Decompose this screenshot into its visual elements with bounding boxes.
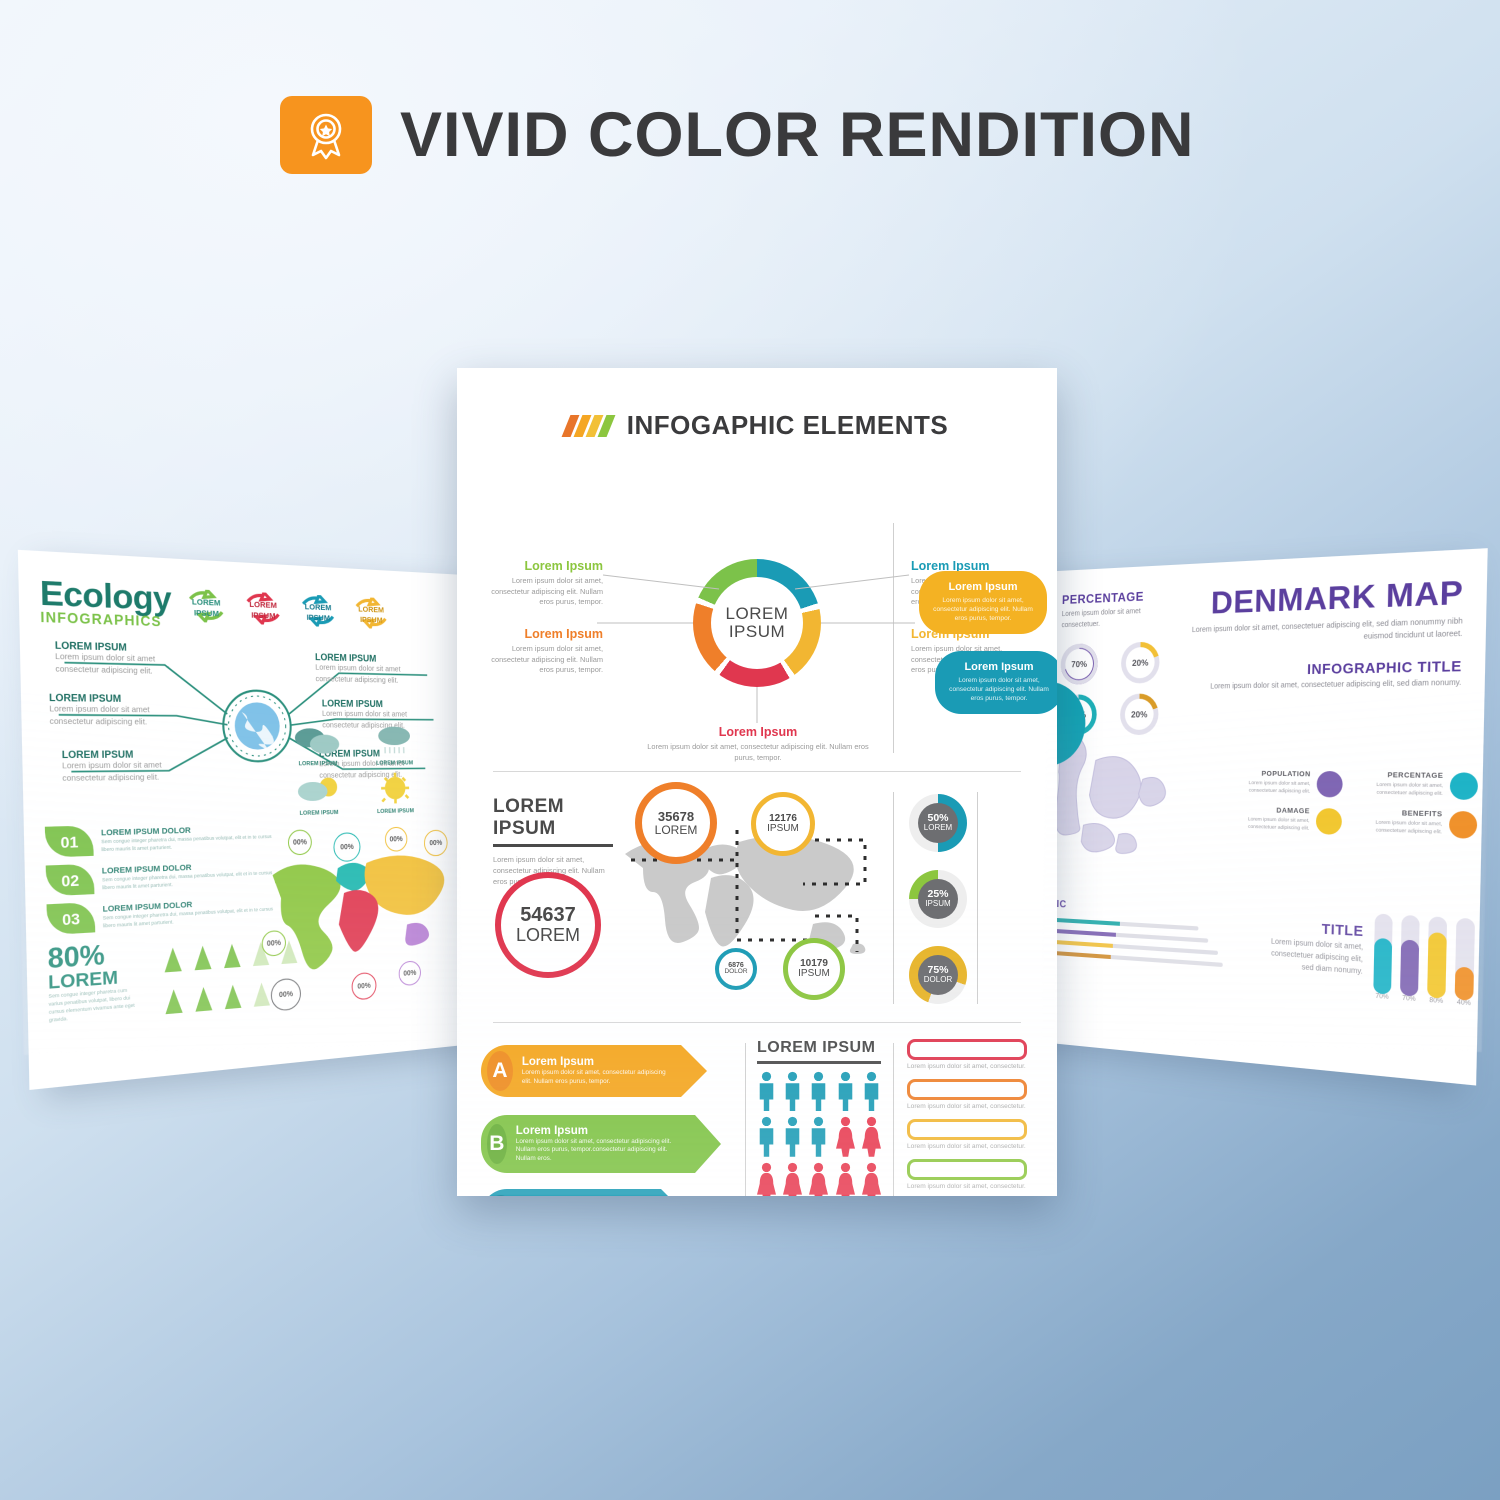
arrow-letter: B xyxy=(487,1124,507,1164)
leaf-number: 03 xyxy=(47,902,96,935)
legend-body: Lorem ipsum dolor sit amet, consectetuer… xyxy=(1227,780,1310,797)
globe-label-body: Lorem ipsum dolor sit amet consectetur a… xyxy=(315,663,415,687)
map-section-title: LOREM IPSUM xyxy=(493,796,613,840)
gauge-inner: 50% LOREM xyxy=(918,803,958,843)
cycle-label-title: Lorem Ipsum xyxy=(475,627,603,641)
person-male-icon xyxy=(757,1071,776,1112)
recycle-badge-line2: IPSUM xyxy=(296,612,341,624)
globe-label-body: Lorem ipsum dolor sit amet consectetur a… xyxy=(55,652,173,679)
denmark-legend: POPULATION Lorem ipsum dolor sit amet, c… xyxy=(1226,770,1478,839)
legend-item: PERCENTAGE Lorem ipsum dolor sit amet, c… xyxy=(1353,771,1478,800)
center-poster-title: INFOGAPHIC ELEMENTS xyxy=(627,410,949,441)
clouds-icon xyxy=(292,724,344,756)
bar-label: 80% xyxy=(1427,997,1445,1005)
cycle-label-body: Lorem ipsum dolor sit amet, consectetur … xyxy=(475,576,603,608)
people-section-title: LOREM IPSUM xyxy=(757,1039,881,1057)
list-item: 02 LOREM IPSUM DOLOR Sem congue integer … xyxy=(46,857,279,896)
legend-label: PERCENTAGE xyxy=(1354,771,1444,780)
weather-label: LOREM IPSUM xyxy=(363,808,428,816)
bar-group: 70% xyxy=(1373,914,1393,1002)
award-ribbon-icon xyxy=(280,96,372,174)
person-male-icon xyxy=(757,1116,776,1157)
percent-ring-value: 70% xyxy=(1071,658,1087,668)
person-female-icon xyxy=(836,1162,855,1196)
gauge-label: DOLOR xyxy=(924,976,952,984)
globe-label: LOREM IPSUM xyxy=(62,749,179,761)
right-poster-denmark[interactable]: PERCENTAGE Lorem ipsum dolor sit amet co… xyxy=(1036,548,1488,1085)
legend-label: POPULATION xyxy=(1228,770,1311,778)
percent-ring-value: 20% xyxy=(1132,657,1149,668)
list-item: 01 LOREM IPSUM DOLOR Sem congue integer … xyxy=(45,821,278,858)
weather-label: LOREM IPSUM xyxy=(362,760,427,767)
globe-label-body: Lorem ipsum dolor sit amet consectetur a… xyxy=(49,704,167,729)
bar-group: 80% xyxy=(1427,916,1447,1005)
gauge: 50% LOREM xyxy=(909,794,967,852)
map-marker-label: LOREM xyxy=(516,926,580,945)
callout-card-body: Lorem ipsum dolor sit amet, consectetur … xyxy=(933,596,1033,624)
legend-body: Lorem ipsum dolor sit amet, consectetuer… xyxy=(1226,816,1309,834)
arrow-banner[interactable]: B Lorem Ipsum Lorem ipsum dolor sit amet… xyxy=(481,1115,695,1173)
arrow-body: Lorem ipsum dolor sit amet, consectetur … xyxy=(516,1138,687,1164)
recycle-badge: LOREM IPSUM xyxy=(295,594,341,633)
divider xyxy=(745,1043,746,1196)
page-title: VIVID COLOR RENDITION xyxy=(400,99,1195,171)
recycle-badge-row: LOREM IPSUM LOREM IPSUM xyxy=(182,589,394,638)
map-bubble: 00% xyxy=(271,977,302,1011)
legend-item: BENEFITS Lorem ipsum dolor sit amet, con… xyxy=(1352,809,1477,839)
leaf-list: 01 LOREM IPSUM DOLOR Sem congue integer … xyxy=(45,821,280,935)
cycle-label-body: Lorem ipsum dolor sit amet, consectetur … xyxy=(475,644,603,676)
ecology-world-map: 00% 00% 00% 00% 00% 00% 00% 00% xyxy=(259,825,454,1033)
center-poster-header: INFOGAPHIC ELEMENTS xyxy=(457,410,1057,441)
pill-bar xyxy=(907,1039,1027,1060)
person-male-icon xyxy=(809,1071,828,1112)
diagonal-stripes-logo xyxy=(566,415,611,437)
divider xyxy=(977,792,978,1004)
map-marker-value: 35678 xyxy=(658,810,694,824)
map-marker-label: IPSUM xyxy=(767,824,799,835)
divider xyxy=(493,1022,1021,1023)
arrow-banner[interactable]: C Lorem Ipsum Lorem ipsum dolor sit amet… xyxy=(481,1189,661,1196)
pill-caption: Lorem ipsum dolor sit amet, consectetur. xyxy=(907,1183,1027,1190)
cycle-label-title: Lorem Ipsum xyxy=(643,725,873,739)
callout-card-body: Lorem ipsum dolor sit amet, consectetur … xyxy=(949,676,1049,704)
percentage-body: Lorem ipsum dolor sit amet consectetuer. xyxy=(1061,605,1175,631)
bar-label: 70% xyxy=(1373,993,1391,1001)
gauge-inner: 75% DOLOR xyxy=(918,955,958,995)
recycle-badge-line2: IPSUM xyxy=(240,609,287,621)
person-male-icon xyxy=(783,1116,802,1157)
sun-icon xyxy=(370,772,419,803)
denmark-bar-chart: TITLE Lorem ipsum dolor sit amet, consec… xyxy=(1260,908,1480,1008)
arrow-title: Lorem Ipsum xyxy=(522,1056,673,1068)
legend-body: Lorem ipsum dolor sit amet, consectetuer… xyxy=(1353,781,1443,798)
cycle-label: Lorem Ipsum Lorem ipsum dolor sit amet, … xyxy=(475,627,603,676)
person-female-icon xyxy=(757,1162,776,1196)
gauge: 25% IPSUM xyxy=(909,870,967,928)
pill-caption: Lorem ipsum dolor sit amet, consectetur. xyxy=(907,1103,1027,1110)
weather-item: LOREM IPSUM xyxy=(284,773,354,817)
arrow-body: Lorem ipsum dolor sit amet, consectetur … xyxy=(522,1069,673,1086)
globe-label-body: Lorem ipsum dolor sit amet consectetur a… xyxy=(62,760,179,785)
legend-label: DAMAGE xyxy=(1227,806,1310,815)
pill-bar xyxy=(907,1159,1027,1180)
recycle-badge-line2: IPSUM xyxy=(182,607,231,619)
ecology-title: Ecology xyxy=(40,576,172,615)
leaf-number: 02 xyxy=(46,864,95,897)
arrow-banner[interactable]: A Lorem Ipsum Lorem ipsum dolor sit amet… xyxy=(481,1045,681,1097)
map-marker[interactable]: 12176 IPSUM xyxy=(751,792,815,856)
chart-body: Lorem ipsum dolor sit amet, consectetuer… xyxy=(1260,937,1363,979)
center-poster-infographic[interactable]: INFOGAPHIC ELEMENTS LOREM IPSUM xyxy=(457,368,1057,1196)
weather-label: LOREM IPSUM xyxy=(284,809,353,817)
bar-label: 70% xyxy=(1400,995,1418,1003)
person-female-icon xyxy=(862,1116,881,1157)
map-marker[interactable]: 35678 LOREM xyxy=(635,782,717,864)
people-pictogram xyxy=(757,1071,881,1197)
recycle-badge-line2: IPSUM xyxy=(349,614,393,625)
denmark-map: % xyxy=(1036,679,1210,890)
map-marker-value: 54637 xyxy=(520,905,576,926)
legend-label: BENEFITS xyxy=(1353,809,1443,819)
cycle-label-body: Lorem ipsum dolor sit amet, consectetur … xyxy=(643,742,873,763)
weather-item: LOREM IPSUM xyxy=(362,772,428,815)
pill-bar xyxy=(907,1119,1027,1140)
infographic-section-title: INFOGRAPHIC TITLE xyxy=(1187,657,1461,679)
rain-cloud-icon xyxy=(370,724,419,755)
map-marker-label: DOLOR xyxy=(724,969,747,976)
arrow-letter: C xyxy=(487,1195,514,1196)
map-marker[interactable]: 54637 LOREM xyxy=(495,872,601,978)
cycle-label-title: Lorem Ipsum xyxy=(475,559,603,573)
denmark-title: DENMARK MAP xyxy=(1189,574,1464,622)
person-male-icon xyxy=(783,1071,802,1112)
gauge-label: IPSUM xyxy=(925,900,950,908)
person-male-icon xyxy=(809,1116,828,1157)
person-female-icon xyxy=(862,1162,881,1196)
left-poster-ecology[interactable]: Ecology INFOGRAPHICS LOREM IPSUM xyxy=(18,550,469,1090)
bar-group: 40% xyxy=(1455,918,1476,1008)
percentage-title: PERCENTAGE xyxy=(1062,588,1176,607)
bar-label: 40% xyxy=(1455,999,1474,1007)
people-section: LOREM IPSUM xyxy=(757,1039,881,1196)
person-female-icon xyxy=(783,1162,802,1196)
divider xyxy=(893,792,894,1004)
recycle-badge: LOREM IPSUM xyxy=(182,589,231,629)
pill-caption: Lorem ipsum dolor sit amet, consectetur. xyxy=(907,1063,1027,1070)
legend-dot xyxy=(1316,808,1342,835)
weather-label: LOREM IPSUM xyxy=(283,761,352,768)
partly-cloudy-icon xyxy=(293,773,345,805)
legend-item: DAMAGE Lorem ipsum dolor sit amet, conse… xyxy=(1226,806,1342,835)
legend-item: POPULATION Lorem ipsum dolor sit amet, c… xyxy=(1227,770,1343,798)
person-female-icon xyxy=(809,1162,828,1196)
weather-icon-group: LOREM IPSUM LOREM IPSUM LOREM IPSUM LORE… xyxy=(283,724,428,817)
leaf-number: 01 xyxy=(45,826,94,858)
bar-group: 70% xyxy=(1400,915,1420,1003)
infographic-section-body: Lorem ipsum dolor sit amet, consectetuer… xyxy=(1187,678,1461,694)
recycle-badge: LOREM IPSUM xyxy=(349,597,393,635)
gauge: 75% DOLOR xyxy=(909,946,967,1004)
pill-list: Lorem ipsum dolor sit amet, consectetur.… xyxy=(907,1039,1027,1196)
percent-ring: 70% xyxy=(1060,643,1098,684)
divider xyxy=(893,1043,894,1196)
arrow-title: Lorem Ipsum xyxy=(516,1125,687,1137)
header: VIVID COLOR RENDITION xyxy=(280,96,1195,174)
legend-dot xyxy=(1316,771,1342,798)
map-marker[interactable]: 10179 IPSUM xyxy=(783,938,845,1000)
legend-dot xyxy=(1449,811,1477,839)
callout-card[interactable]: Lorem Ipsum Lorem ipsum dolor sit amet, … xyxy=(919,571,1047,634)
cycle-label: Lorem Ipsum Lorem ipsum dolor sit amet, … xyxy=(475,559,603,608)
pill-caption: Lorem ipsum dolor sit amet, consectetur. xyxy=(907,1143,1027,1150)
percent-body: Sem congue integer pharetra cum varius p… xyxy=(48,986,141,1024)
person-male-icon xyxy=(836,1071,855,1112)
callout-card[interactable]: Lorem Ipsum Lorem ipsum dolor sit amet, … xyxy=(935,651,1057,714)
gauge-inner: 25% IPSUM xyxy=(918,879,958,919)
legend-body: Lorem ipsum dolor sit amet, consectetuer… xyxy=(1352,819,1442,837)
poster-mockup-scene: VIVID COLOR RENDITION Ecology INFOGRAPHI… xyxy=(0,0,1500,1500)
person-male-icon xyxy=(862,1071,881,1112)
cycle-label: Lorem Ipsum Lorem ipsum dolor sit amet, … xyxy=(643,725,873,763)
map-marker-label: IPSUM xyxy=(798,969,830,980)
denmark-intro: Lorem ipsum dolor sit amet, consectetuer… xyxy=(1188,617,1463,649)
map-marker[interactable]: 6876 DOLOR xyxy=(715,948,757,990)
callout-card-title: Lorem Ipsum xyxy=(949,661,1049,673)
map-bubble: 00% xyxy=(351,972,376,1001)
callout-card-title: Lorem Ipsum xyxy=(933,581,1033,593)
gauge-label: LOREM xyxy=(924,824,952,832)
person-female-icon xyxy=(836,1116,855,1157)
percent-ring: 20% xyxy=(1121,641,1160,683)
chart-title: TITLE xyxy=(1261,918,1364,940)
arrow-letter: A xyxy=(487,1051,513,1091)
weather-item: LOREM IPSUM xyxy=(361,724,427,766)
weather-item: LOREM IPSUM xyxy=(283,724,353,768)
infographic-lines-block: RAPHIC xyxy=(1036,897,1260,969)
pill-bar xyxy=(907,1079,1027,1100)
recycle-badge: LOREM IPSUM xyxy=(239,592,287,631)
legend-dot xyxy=(1450,772,1479,800)
map-marker-label: LOREM xyxy=(655,824,698,837)
list-item: 03 LOREM IPSUM DOLOR Sem congue integer … xyxy=(47,893,280,935)
